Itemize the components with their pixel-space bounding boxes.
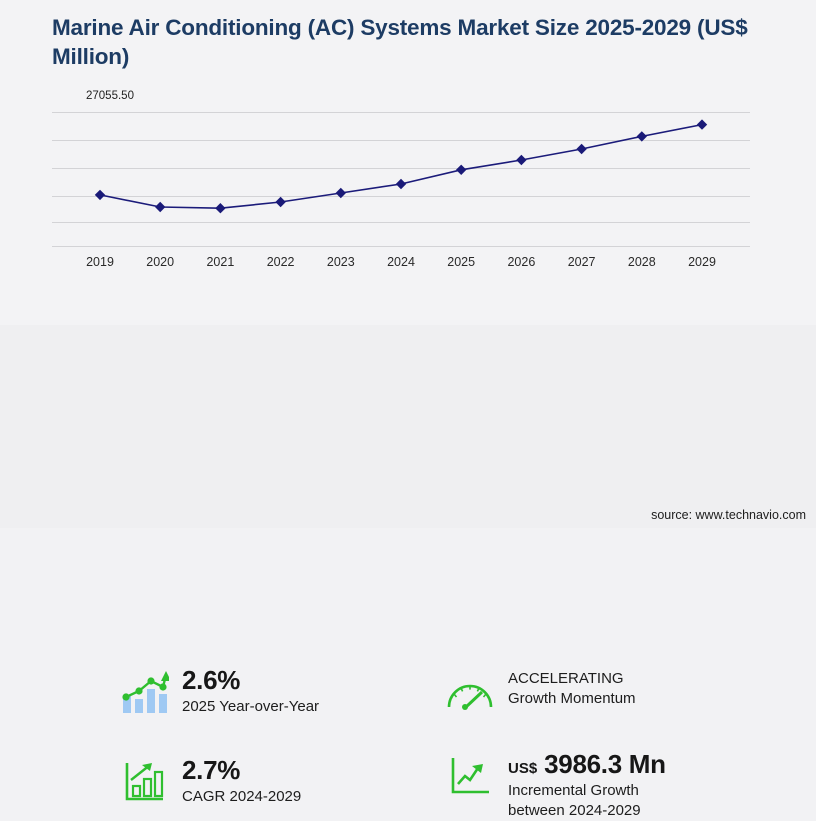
stat-momentum-value: ACCELERATING — [508, 669, 774, 689]
data-point-marker — [155, 202, 165, 212]
data-point-marker — [697, 119, 707, 129]
page-title: Marine Air Conditioning (AC) Systems Mar… — [52, 14, 752, 72]
x-axis-tick-2024: 2024 — [387, 255, 415, 269]
stat-yoy-caption: 2025 Year-over-Year — [182, 697, 418, 717]
data-point-marker — [215, 203, 225, 213]
x-axis-tick-2021: 2021 — [206, 255, 234, 269]
cagr-bar-chart-icon — [118, 757, 170, 807]
x-axis-tick-2019: 2019 — [86, 255, 114, 269]
stat-incremental-growth-text: US$ 3986.3 Mn Incremental Growth between… — [508, 751, 784, 821]
data-point-marker — [456, 165, 466, 175]
x-axis-tick-2027: 2027 — [568, 255, 596, 269]
stat-cagr-caption: CAGR 2024-2029 — [182, 787, 418, 807]
speedometer-icon — [444, 669, 496, 719]
x-axis-tick-2028: 2028 — [628, 255, 656, 269]
bar-chart-growth-icon — [118, 667, 170, 717]
data-point-marker — [336, 188, 346, 198]
source-label: source: www.technavio.com — [651, 508, 806, 522]
stats-panel: 2.6% 2025 Year-over-Year 2.7% CAGR 2024-… — [0, 325, 816, 528]
stat-momentum-caption: Growth Momentum — [508, 689, 774, 709]
line-growth-icon — [444, 751, 496, 801]
stat-yoy-value: 2.6% — [182, 667, 418, 694]
currency-unit: US$ — [508, 760, 537, 777]
x-axis: 2019202020212022202320242025202620272028… — [52, 255, 750, 277]
infographic-page: Marine Air Conditioning (AC) Systems Mar… — [0, 0, 816, 528]
stat-momentum-text: ACCELERATING Growth Momentum — [508, 669, 774, 710]
x-axis-tick-2025: 2025 — [447, 255, 475, 269]
data-point-marker — [95, 190, 105, 200]
stat-incremental-growth-value: US$ 3986.3 Mn — [508, 751, 784, 778]
stat-incremental-caption-line2: between 2024-2029 — [508, 801, 784, 821]
x-axis-tick-2029: 2029 — [688, 255, 716, 269]
stat-yoy-text: 2.6% 2025 Year-over-Year — [182, 667, 418, 717]
incremental-growth-amount: 3986.3 Mn — [544, 749, 666, 779]
stat-cagr-text: 2.7% CAGR 2024-2029 — [182, 757, 418, 807]
data-point-marker — [637, 131, 647, 141]
stat-incremental-growth: US$ 3986.3 Mn Incremental Growth between… — [444, 751, 784, 821]
data-point-marker — [396, 179, 406, 189]
stat-cagr-value: 2.7% — [182, 757, 418, 784]
stat-yoy: 2.6% 2025 Year-over-Year — [118, 667, 418, 717]
stat-momentum: ACCELERATING Growth Momentum — [444, 669, 774, 719]
stat-incremental-caption-line1: Incremental Growth — [508, 781, 784, 801]
data-point-marker — [576, 144, 586, 154]
stat-cagr: 2.7% CAGR 2024-2029 — [118, 757, 418, 807]
chart-plot-area: 27055.50 — [52, 108, 750, 248]
line-series — [52, 94, 750, 264]
x-axis-tick-2020: 2020 — [146, 255, 174, 269]
data-point-marker — [275, 197, 285, 207]
x-axis-tick-2026: 2026 — [507, 255, 535, 269]
data-point-label: 27055.50 — [86, 90, 134, 102]
data-point-marker — [516, 155, 526, 165]
chart-panel: Marine Air Conditioning (AC) Systems Mar… — [0, 0, 816, 325]
x-axis-tick-2022: 2022 — [267, 255, 295, 269]
x-axis-tick-2023: 2023 — [327, 255, 355, 269]
